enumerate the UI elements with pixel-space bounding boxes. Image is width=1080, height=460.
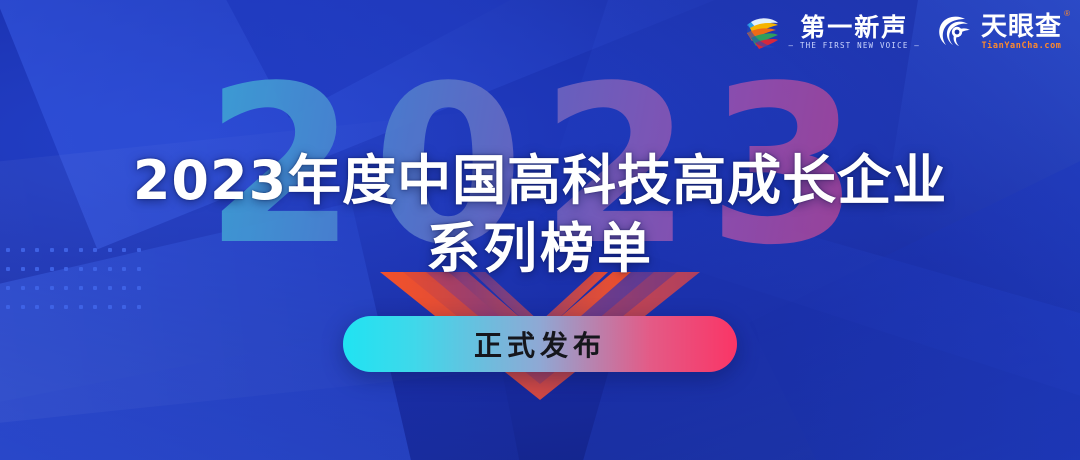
dot bbox=[137, 286, 141, 290]
dot bbox=[79, 267, 83, 271]
dot bbox=[50, 248, 54, 252]
dot bbox=[64, 267, 68, 271]
dot-grid-decoration bbox=[6, 248, 148, 324]
dot bbox=[108, 248, 112, 252]
dot bbox=[35, 286, 39, 290]
background-sheen bbox=[0, 75, 851, 426]
eye-aperture-icon bbox=[934, 12, 974, 52]
dot bbox=[122, 248, 126, 252]
swirl-globe-icon bbox=[742, 12, 782, 52]
dot bbox=[64, 305, 68, 309]
page-title-line-2: 系列榜单 bbox=[0, 217, 1080, 281]
dot bbox=[79, 248, 83, 252]
background-facet-top-left-1 bbox=[0, 0, 802, 249]
dot bbox=[50, 267, 54, 271]
dot bbox=[6, 286, 10, 290]
dot bbox=[108, 267, 112, 271]
dot bbox=[93, 267, 97, 271]
background-facet-bottom-right-2 bbox=[749, 51, 1080, 460]
dot bbox=[35, 267, 39, 271]
logo-tianyancha-name: 天眼查 bbox=[981, 14, 1062, 40]
dot bbox=[21, 267, 25, 271]
dot bbox=[137, 305, 141, 309]
dot bbox=[122, 286, 126, 290]
logo-diyixinsheng[interactable]: 第一新声 — THE FIRST NEW VOICE — bbox=[742, 12, 920, 52]
dot bbox=[21, 305, 25, 309]
dot bbox=[6, 267, 10, 271]
dot bbox=[6, 248, 10, 252]
dot bbox=[35, 305, 39, 309]
dot bbox=[6, 305, 10, 309]
logo-diyixinsheng-text: 第一新声 — THE FIRST NEW VOICE — bbox=[789, 15, 920, 50]
poster-banner: 2023 2023年度中国高科技高成长企业 系列榜单 正式发布 bbox=[0, 0, 1080, 460]
dot bbox=[64, 286, 68, 290]
year-watermark: 2023 bbox=[0, 58, 1080, 276]
logo-tianyancha-text: ® 天眼查 TianYanCha.com bbox=[981, 14, 1062, 51]
dot bbox=[35, 248, 39, 252]
dot bbox=[137, 248, 141, 252]
release-announcement-button[interactable]: 正式发布 bbox=[343, 316, 737, 372]
dot bbox=[64, 248, 68, 252]
logo-tianyancha-tagline: TianYanCha.com bbox=[981, 42, 1061, 51]
logo-diyixinsheng-name: 第一新声 bbox=[800, 15, 908, 40]
dot bbox=[93, 286, 97, 290]
page-title: 2023年度中国高科技高成长企业 系列榜单 bbox=[0, 149, 1080, 281]
dot bbox=[21, 286, 25, 290]
dot bbox=[122, 267, 126, 271]
logo-tianyancha[interactable]: ® 天眼查 TianYanCha.com bbox=[934, 12, 1062, 52]
trademark-symbol: ® bbox=[1064, 9, 1070, 18]
release-announcement-label: 正式发布 bbox=[474, 324, 606, 364]
dot bbox=[137, 267, 141, 271]
dot bbox=[108, 305, 112, 309]
page-title-line-1: 2023年度中国高科技高成长企业 bbox=[0, 149, 1080, 213]
dot bbox=[79, 305, 83, 309]
dot bbox=[93, 248, 97, 252]
dot bbox=[79, 286, 83, 290]
dot bbox=[50, 305, 54, 309]
background-facet-right-edge bbox=[838, 0, 1080, 460]
dot bbox=[122, 305, 126, 309]
dot bbox=[50, 286, 54, 290]
logo-bar: 第一新声 — THE FIRST NEW VOICE — ® 天眼查 TianY… bbox=[742, 12, 1062, 52]
logo-diyixinsheng-tagline: — THE FIRST NEW VOICE — bbox=[789, 42, 920, 50]
dot bbox=[93, 305, 97, 309]
dot bbox=[21, 248, 25, 252]
dot bbox=[108, 286, 112, 290]
